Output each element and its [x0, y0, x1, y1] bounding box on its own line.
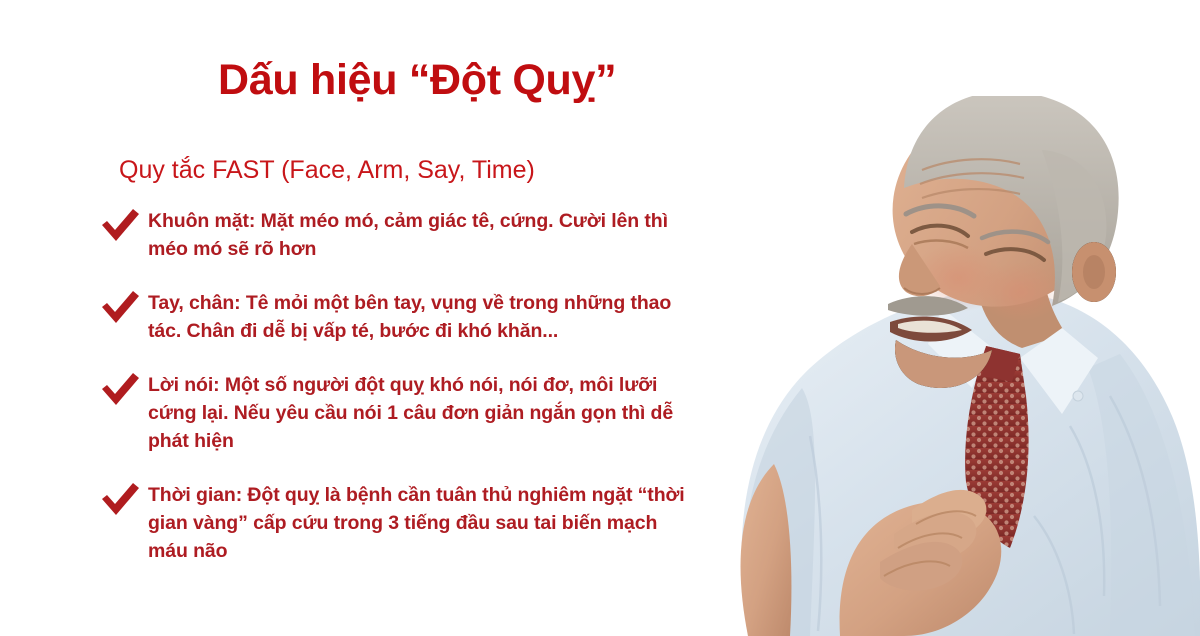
elderly-man-clutching-chest-photo — [690, 96, 1200, 636]
list-item-label: Khuôn mặt: Mặt méo mó, cảm giác tê, cứng… — [148, 207, 698, 263]
list-item: Lời nói: Một số người đột quỵ khó nói, n… — [98, 371, 698, 455]
list-item: Tay, chân: Tê mỏi một bên tay, vụng về t… — [98, 289, 698, 345]
infographic-canvas: Dấu hiệu “Đột Quỵ” Quy tắc FAST (Face, A… — [0, 0, 1200, 636]
check-icon — [98, 209, 148, 243]
list-item: Khuôn mặt: Mặt méo mó, cảm giác tê, cứng… — [98, 207, 698, 263]
check-icon — [98, 483, 148, 517]
list-item-label: Tay, chân: Tê mỏi một bên tay, vụng về t… — [148, 289, 698, 345]
check-icon — [98, 291, 148, 325]
stroke-signs-list: Khuôn mặt: Mặt méo mó, cảm giác tê, cứng… — [98, 207, 698, 591]
subtitle-fast-rule: Quy tắc FAST (Face, Arm, Say, Time) — [119, 156, 535, 185]
list-item-label: Thời gian: Đột quỵ là bệnh cần tuân thủ … — [148, 481, 698, 565]
page-title: Dấu hiệu “Đột Quỵ” — [218, 56, 616, 105]
check-icon — [98, 373, 148, 407]
list-item: Thời gian: Đột quỵ là bệnh cần tuân thủ … — [98, 481, 698, 565]
list-item-label: Lời nói: Một số người đột quỵ khó nói, n… — [148, 371, 698, 455]
